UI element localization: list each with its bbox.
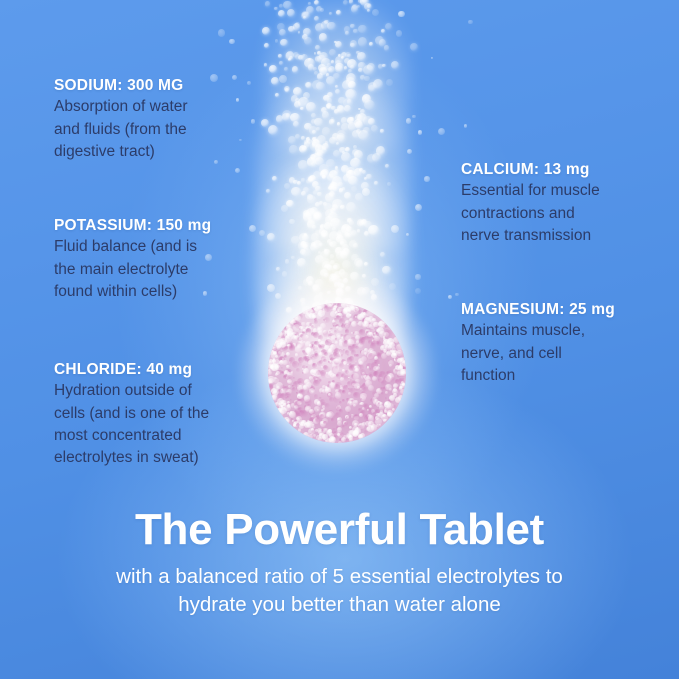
nutrient-title-potassium: POTASSIUM: 150 mg	[54, 216, 304, 236]
fizz-bubble	[347, 233, 352, 238]
tablet-granule	[363, 387, 367, 391]
fizz-bubble	[364, 231, 369, 236]
fizz-bubble	[293, 180, 298, 185]
tablet-rim-bubble	[387, 412, 391, 416]
fizz-bubble-stray	[406, 118, 411, 123]
fizz-bubble	[380, 252, 385, 257]
fizz-bubble	[278, 10, 285, 17]
tablet-granule	[348, 392, 351, 395]
fizz-bubble-stray	[281, 205, 288, 212]
tablet-granule	[345, 406, 351, 412]
fizz-bubble-stray	[307, 194, 313, 200]
tablet-granule	[378, 364, 380, 366]
fizz-bubble-stray	[235, 168, 240, 173]
fizz-bubble	[292, 66, 298, 72]
fizz-bubble	[363, 116, 373, 126]
tablet-granule	[339, 363, 345, 369]
tablet-granule	[306, 322, 310, 326]
tablet-rim-bubble	[271, 353, 277, 359]
fizz-bubble	[322, 233, 327, 238]
fizz-bubble	[306, 102, 316, 112]
fizz-bubble-stray	[307, 139, 312, 144]
tablet-granule	[371, 341, 376, 346]
fizz-bubble	[264, 43, 269, 48]
fizz-bubble-stray	[229, 39, 235, 45]
fizz-bubble	[347, 54, 350, 57]
fizz-bubble	[332, 227, 336, 231]
tablet-granule	[354, 414, 359, 419]
tablet-granule	[357, 386, 360, 389]
nutrient-body-potassium: Fluid balance (and is the main electroly…	[54, 236, 304, 303]
fizz-bubble	[364, 100, 375, 111]
tablet-granule	[326, 412, 331, 417]
tablet-granule	[375, 362, 377, 364]
fizz-bubble	[352, 149, 359, 156]
tablet-granule	[347, 416, 349, 418]
fizz-bubble	[362, 274, 366, 278]
fizz-bubble	[265, 1, 270, 6]
fizz-bubble	[327, 92, 333, 98]
fizz-bubble	[336, 10, 341, 15]
fizz-bubble	[340, 251, 344, 255]
fizz-bubble	[320, 225, 324, 229]
fizz-bubble	[378, 64, 383, 69]
fizz-bubble-stray	[342, 151, 345, 154]
tablet-granule	[353, 373, 359, 379]
nutrient-block-magnesium: MAGNESIUM: 25 mg Maintains muscle, nerve…	[461, 300, 679, 387]
tablet-granule	[352, 400, 358, 406]
fizz-bubble	[339, 188, 344, 193]
tablet-granule	[302, 335, 307, 340]
tablet-rim-bubble	[369, 323, 375, 329]
fizz-bubble-stray	[438, 128, 445, 135]
tablet-rim-bubble	[372, 318, 375, 321]
tablet-rim-bubble	[316, 313, 322, 319]
fizz-bubble	[318, 251, 322, 255]
fizz-bubble	[354, 258, 363, 267]
fizz-bubble-stray	[448, 295, 452, 299]
tablet-granule	[340, 334, 343, 337]
tablet-rim-bubble	[290, 333, 294, 337]
fizz-bubble	[358, 62, 365, 69]
tablet-rim-bubble	[392, 347, 396, 351]
fizz-bubble-stray	[320, 8, 324, 12]
fizz-bubble	[288, 26, 295, 33]
tablet-granule	[359, 338, 365, 344]
tablet-granule	[336, 326, 339, 329]
tablet-granule	[353, 392, 360, 399]
tablet-rim-bubble	[357, 314, 363, 320]
fizz-bubble	[285, 52, 293, 60]
tablet-granule	[323, 421, 327, 425]
tablet-granule	[342, 399, 345, 402]
tablet-granule	[363, 414, 367, 418]
fizz-bubble	[274, 7, 277, 10]
tablet-granule	[295, 353, 298, 356]
fizz-bubble	[357, 229, 360, 232]
tablet-granule	[321, 356, 327, 362]
fizz-bubble-stray	[407, 149, 412, 154]
tablet-granule	[284, 355, 287, 358]
fizz-bubble	[334, 109, 338, 113]
fizz-bubble-stray	[391, 225, 399, 233]
fizz-bubble-stray	[415, 274, 420, 279]
fizz-bubble-stray	[412, 115, 415, 118]
fizz-bubble	[343, 0, 348, 5]
fizz-bubble-stray	[366, 66, 369, 69]
nutrient-body-magnesium: Maintains muscle, nerve, and cell functi…	[461, 320, 679, 387]
tablet-rim-bubble	[295, 317, 298, 320]
fizz-bubble	[329, 49, 336, 56]
nutrient-title-sodium: SODIUM: 300 MG	[54, 76, 304, 96]
tablet-granule	[286, 346, 289, 349]
tablet-granule	[348, 412, 350, 414]
tablet-granule	[340, 385, 343, 388]
nutrient-title-calcium: CALCIUM: 13 mg	[461, 160, 679, 180]
fizz-bubble	[335, 41, 342, 48]
fizz-bubble	[291, 187, 300, 196]
tablet-granule	[354, 354, 357, 357]
fizz-bubble	[279, 4, 283, 8]
tablet-granule	[322, 405, 325, 408]
tablet-granule	[364, 352, 367, 355]
fizz-bubble	[341, 165, 349, 173]
fizz-bubble	[358, 25, 367, 34]
fizz-bubble	[335, 60, 341, 66]
infographic-canvas: SODIUM: 300 MG Absorption of water and f…	[0, 0, 679, 679]
headline: The Powerful Tablet	[0, 505, 679, 554]
tablet-granule	[385, 397, 387, 399]
fizz-bubble	[319, 201, 323, 205]
tablet-granule	[369, 332, 373, 336]
tablet-rim-bubble	[366, 310, 373, 317]
fizz-bubble-stray	[431, 57, 434, 60]
tablet-granule	[331, 335, 336, 340]
fizz-bubble	[329, 242, 333, 246]
tablet-granule	[385, 391, 388, 394]
fizz-bubble-stray	[358, 108, 361, 111]
fizz-bubble	[311, 119, 316, 124]
nutrient-block-sodium: SODIUM: 300 MG Absorption of water and f…	[54, 76, 304, 163]
fizz-bubble	[355, 193, 363, 201]
tablet-granule	[349, 363, 352, 366]
fizz-bubble-stray	[362, 188, 370, 196]
fizz-bubble	[340, 239, 347, 246]
tablet-granule	[359, 329, 365, 335]
fizz-bubble	[303, 187, 309, 193]
tablet-rim-bubble	[391, 353, 397, 359]
fizz-bubble	[368, 85, 375, 92]
fizz-bubble	[284, 67, 288, 71]
fizz-bubble	[368, 225, 378, 235]
fizz-bubble	[364, 262, 368, 266]
tablet-granule	[334, 330, 337, 333]
fizz-bubble	[316, 127, 320, 131]
fizz-bubble	[312, 139, 320, 147]
fizz-bubble	[278, 54, 282, 58]
fizz-bubble	[333, 73, 340, 80]
tablet-rim-bubble	[330, 311, 336, 317]
nutrient-block-chloride: CHLORIDE: 40 mg Hydration outside of cel…	[54, 360, 314, 470]
fizz-bubble	[350, 43, 354, 47]
tablet-rim-bubble	[305, 312, 312, 319]
tablet-rim-bubble	[347, 434, 351, 438]
tablet-rim-bubble	[367, 425, 373, 431]
fizz-bubble	[332, 176, 342, 186]
fizz-bubble	[352, 4, 358, 10]
fizz-bubble-stray	[275, 39, 278, 42]
tablet-rim-bubble	[376, 424, 379, 427]
tablet-rim-bubble	[356, 308, 359, 311]
fizz-bubble	[319, 33, 327, 41]
fizz-bubble-stray	[418, 130, 423, 135]
tablet-granule	[337, 417, 343, 423]
fizz-bubble	[320, 269, 328, 277]
fizz-bubble	[287, 9, 295, 17]
tablet-rim-bubble	[400, 372, 403, 375]
fizz-bubble-stray	[396, 30, 403, 37]
fizz-bubble	[349, 0, 353, 4]
fizz-bubble	[366, 174, 371, 179]
fizz-bubble	[312, 80, 322, 90]
fizz-bubble	[385, 23, 392, 30]
tablet-granule	[370, 398, 375, 403]
tablet-rim-bubble	[375, 416, 378, 419]
fizz-bubble	[358, 37, 367, 46]
fizz-bubble	[380, 129, 383, 132]
fizz-bubble	[381, 29, 385, 33]
tablet-rim-bubble	[376, 329, 379, 332]
fizz-bubble-stray	[415, 204, 422, 211]
fizz-bubble	[346, 73, 356, 83]
tablet-granule	[342, 425, 346, 429]
fizz-bubble	[269, 65, 277, 73]
fizz-bubble	[371, 125, 378, 132]
tablet-granule	[342, 369, 344, 371]
tablet-granule	[360, 398, 362, 400]
fizz-bubble	[283, 1, 291, 9]
fizz-bubble-stray	[333, 263, 340, 270]
tablet-granule	[381, 353, 388, 360]
fizz-bubble-stray	[455, 293, 459, 297]
tablet-granule	[350, 416, 352, 418]
fizz-bubble	[305, 82, 311, 88]
fizz-bubble	[359, 220, 365, 226]
fizz-bubble	[382, 266, 391, 275]
tablet-rim-bubble	[275, 337, 282, 344]
tablet-granule	[289, 345, 294, 350]
tablet-granule	[349, 318, 353, 322]
fizz-bubble	[306, 6, 314, 14]
tablet-granule	[337, 427, 342, 432]
tablet-granule	[355, 368, 359, 372]
tablet-granule	[345, 329, 349, 333]
nutrient-block-calcium: CALCIUM: 13 mg Essential for muscle cont…	[461, 160, 679, 247]
tablet-granule	[324, 317, 330, 323]
tablet-granule	[379, 371, 386, 378]
tablet-granule	[313, 353, 319, 359]
tablet-granule	[333, 325, 335, 327]
tablet-granule	[369, 368, 372, 371]
tablet-granule	[360, 388, 362, 390]
fizz-bubble	[317, 192, 321, 196]
nutrient-body-sodium: Absorption of water and fluids (from the…	[54, 96, 304, 163]
fizz-bubble	[304, 233, 308, 237]
tablet-granule	[314, 394, 319, 399]
tablet-granule	[381, 392, 384, 395]
tablet-granule	[335, 392, 341, 398]
tablet-granule	[335, 341, 338, 344]
tablet-granule	[315, 415, 322, 422]
tablet-rim-bubble	[384, 402, 390, 408]
tablet-granule	[351, 321, 357, 327]
fizz-bubble	[303, 28, 311, 36]
fizz-bubble	[356, 51, 360, 55]
fizz-bubble-stray	[415, 288, 421, 294]
nutrient-title-magnesium: MAGNESIUM: 25 mg	[461, 300, 679, 320]
fizz-bubble-stray	[364, 76, 370, 82]
tablet-granule	[377, 342, 380, 345]
fizz-bubble-stray	[314, 52, 317, 55]
tablet-granule	[383, 386, 387, 390]
fizz-bubble	[279, 61, 283, 65]
tablet-granule	[388, 360, 394, 366]
fizz-bubble	[324, 20, 329, 25]
footer: The Powerful Tablet with a balanced rati…	[0, 505, 679, 619]
fizz-bubble-stray	[468, 20, 473, 25]
tablet-granule	[320, 323, 326, 329]
tablet-granule	[339, 339, 343, 343]
tablet-rim-bubble	[293, 324, 300, 331]
tablet-granule	[319, 379, 323, 383]
fizz-bubble	[324, 249, 327, 252]
nutrient-body-calcium: Essential for muscle contractions and ne…	[461, 180, 679, 247]
fizz-bubble	[311, 113, 316, 118]
nutrient-title-chloride: CHLORIDE: 40 mg	[54, 360, 314, 380]
nutrient-body-chloride: Hydration outside of cells (and is one o…	[54, 380, 314, 469]
tablet-rim-bubble	[393, 388, 397, 392]
tablet-granule	[328, 361, 330, 363]
tablet-rim-bubble	[333, 308, 336, 311]
fizz-bubble	[410, 43, 418, 51]
fizz-bubble	[264, 63, 267, 66]
tablet-rim-bubble	[384, 332, 389, 337]
fizz-bubble-stray	[353, 145, 357, 149]
fizz-bubble-stray	[218, 29, 225, 36]
fizz-bubble-stray	[308, 217, 315, 224]
fizz-bubble	[301, 178, 304, 181]
nutrient-block-potassium: POTASSIUM: 150 mg Fluid balance (and is …	[54, 216, 304, 303]
tablet-granule	[378, 401, 380, 403]
fizz-bubble	[360, 0, 369, 6]
tablet-granule	[348, 388, 350, 390]
tablet-granule	[345, 324, 348, 327]
fizz-bubble-stray	[295, 22, 300, 27]
fizz-bubble	[355, 114, 362, 121]
fizz-bubble	[348, 176, 357, 185]
fizz-bubble	[315, 45, 320, 50]
fizz-bubble	[344, 58, 350, 64]
fizz-bubble-stray	[424, 176, 429, 181]
tablet-rim-bubble	[329, 433, 334, 438]
fizz-bubble	[308, 177, 312, 181]
fizz-bubble-stray	[464, 124, 468, 128]
fizz-bubble-stray	[356, 129, 361, 134]
fizz-bubble	[310, 244, 317, 251]
tablet-rim-bubble	[314, 308, 317, 311]
tablet-granule	[344, 363, 346, 365]
fizz-bubble	[384, 45, 390, 51]
subheadline: with a balanced ratio of 5 essential ele…	[0, 563, 679, 619]
tablet-granule	[336, 333, 341, 338]
tablet-granule	[372, 391, 377, 396]
tablet-rim-bubble	[396, 344, 403, 351]
tablet-rim-bubble	[277, 345, 281, 349]
fizz-bubble	[308, 64, 315, 71]
fizz-bubble	[332, 199, 342, 209]
tablet-rim-bubble	[399, 357, 405, 363]
tablet-rim-bubble	[338, 441, 342, 443]
fizz-bubble	[262, 27, 270, 35]
fizz-bubble-stray	[398, 11, 404, 17]
tablet-rim-bubble	[383, 419, 386, 422]
